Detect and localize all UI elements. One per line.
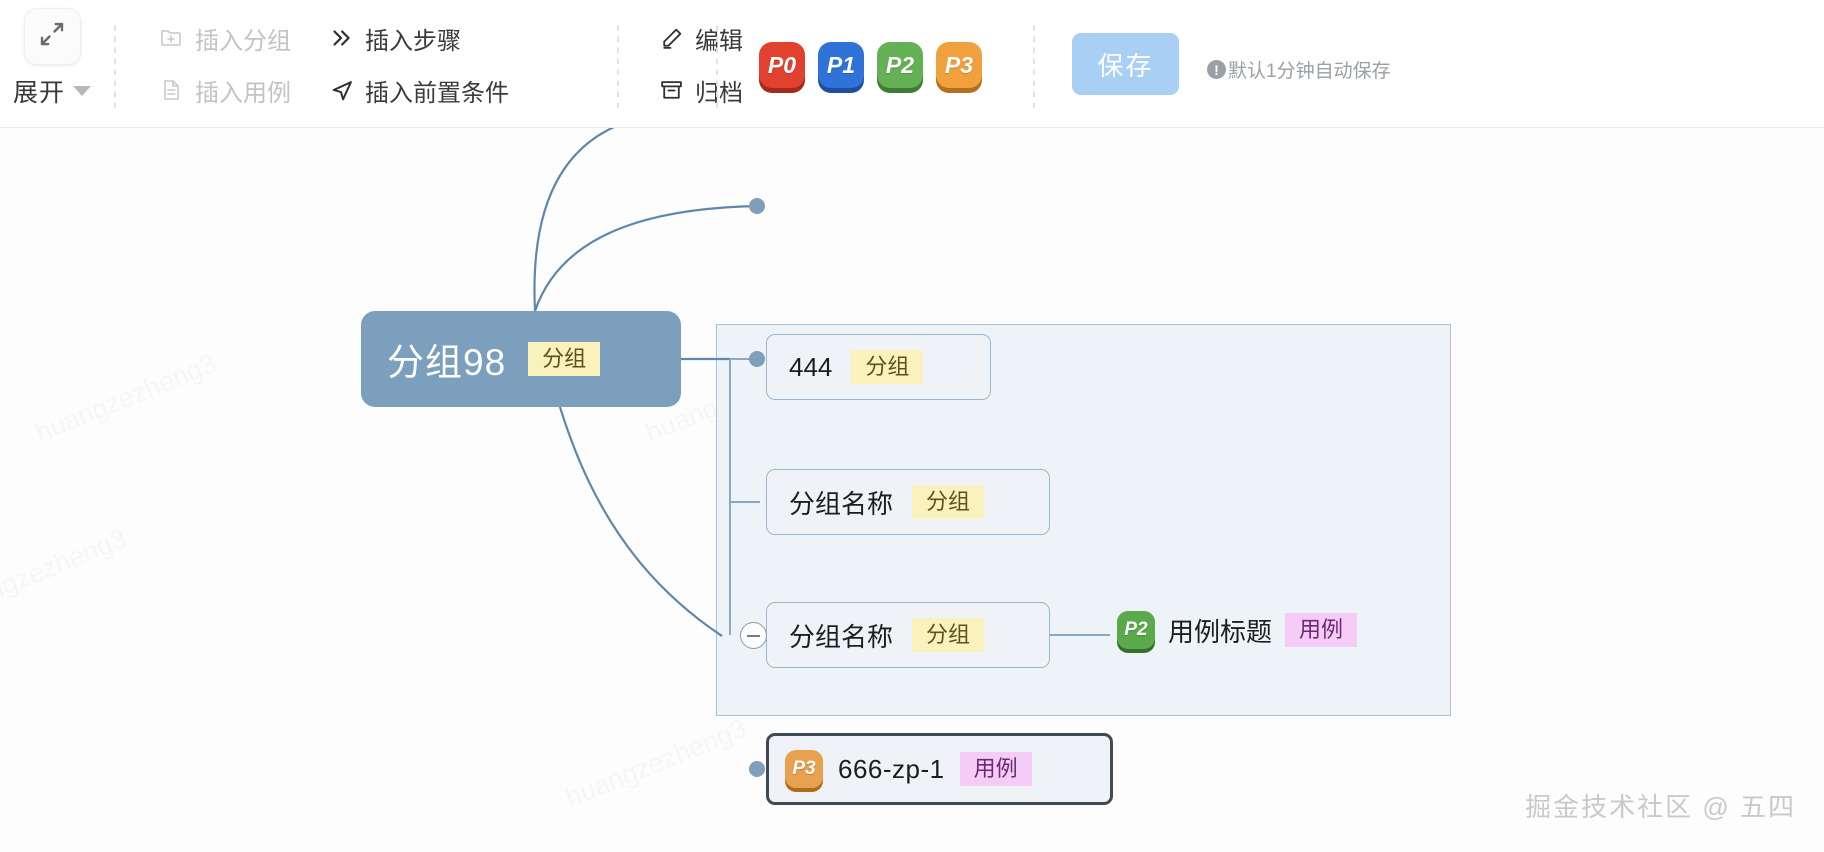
node-title: 666-zp-1 bbox=[838, 754, 945, 785]
toolbar-item-insert-step[interactable]: 插入步骤 bbox=[328, 12, 509, 64]
insert-group-icon bbox=[158, 25, 184, 51]
node-tag: 用例 bbox=[1285, 613, 1357, 647]
chevrons-right-icon bbox=[328, 25, 354, 51]
navigation-arrow-icon bbox=[328, 77, 354, 103]
priority-p2-button[interactable]: P2 bbox=[877, 42, 923, 88]
toolbar-divider-4 bbox=[1033, 20, 1035, 108]
toolbar: 展开 插入分组 插入用 bbox=[0, 0, 1824, 128]
mindmap-node-group-2[interactable]: 分组名称 分组 bbox=[766, 602, 1050, 668]
toolbar-divider-3 bbox=[716, 20, 718, 108]
toolbar-item-archive[interactable]: 归档 bbox=[658, 64, 743, 116]
node-title: 用例标题 bbox=[1168, 612, 1272, 649]
node-title: 分组名称 bbox=[789, 484, 893, 521]
mindmap-node-444[interactable]: 444 分组 bbox=[766, 334, 991, 400]
collapse-minus-icon[interactable] bbox=[740, 622, 767, 649]
priority-p0-button[interactable]: P0 bbox=[759, 42, 805, 88]
toolbar-divider-1 bbox=[114, 20, 116, 108]
node-title: 分组名称 bbox=[789, 617, 893, 654]
node-tag: 分组 bbox=[851, 350, 923, 384]
autosave-hint: ! 默认1分钟自动保存 bbox=[1207, 56, 1391, 83]
expand-button[interactable] bbox=[24, 8, 81, 65]
exclamation-icon: ! bbox=[1207, 60, 1226, 79]
node-tag: 用例 bbox=[960, 752, 1032, 786]
expand-arrows-icon bbox=[37, 19, 67, 54]
priority-p1-button[interactable]: P1 bbox=[818, 42, 864, 88]
brand-watermark: 掘金技术社区 @ 五四 bbox=[1525, 787, 1796, 824]
archive-icon bbox=[658, 77, 684, 103]
toolbar-item-insert-group[interactable]: 插入分组 bbox=[158, 12, 291, 64]
toolbar-item-insert-precondition[interactable]: 插入前置条件 bbox=[328, 64, 509, 116]
toolbar-item-label: 插入步骤 bbox=[365, 21, 461, 56]
priority-badge: P3 bbox=[785, 750, 823, 788]
toolbar-item-label: 归档 bbox=[695, 73, 743, 108]
expand-control[interactable]: 展开 bbox=[6, 8, 98, 120]
priority-p3-button[interactable]: P3 bbox=[936, 42, 982, 88]
chevron-down-icon[interactable] bbox=[73, 86, 91, 96]
toolbar-divider-2 bbox=[617, 20, 619, 108]
toolbar-group-insert: 插入分组 插入用例 bbox=[158, 8, 291, 120]
node-tag: 分组 bbox=[528, 342, 600, 376]
connector-dot bbox=[749, 761, 765, 777]
toolbar-item-label: 插入用例 bbox=[195, 73, 291, 108]
toolbar-item-edit[interactable]: 编辑 bbox=[658, 12, 743, 64]
mindmap-editor: 展开 插入分组 插入用 bbox=[0, 0, 1824, 852]
insert-case-icon bbox=[158, 77, 184, 103]
connector-444 bbox=[535, 206, 760, 311]
connector-dot bbox=[749, 198, 765, 214]
connector-top bbox=[534, 128, 640, 311]
priority-palette: P0 P1 P2 P3 bbox=[759, 42, 982, 88]
priority-badge: P2 bbox=[1117, 611, 1155, 649]
toolbar-item-label: 编辑 bbox=[695, 21, 743, 56]
node-tag: 分组 bbox=[912, 485, 984, 519]
toolbar-group-step: 插入步骤 插入前置条件 bbox=[328, 8, 509, 120]
toolbar-item-insert-case[interactable]: 插入用例 bbox=[158, 64, 291, 116]
node-title: 444 bbox=[789, 352, 832, 383]
expand-label: 展开 bbox=[13, 73, 65, 109]
mindmap-node-selected[interactable]: P3 666-zp-1 用例 bbox=[766, 733, 1113, 805]
toolbar-item-label: 插入分组 bbox=[195, 21, 291, 56]
mindmap-node-root[interactable]: 分组98 分组 bbox=[361, 311, 681, 407]
toolbar-item-label: 插入前置条件 bbox=[365, 73, 509, 108]
autosave-text: 默认1分钟自动保存 bbox=[1228, 56, 1391, 83]
node-title: 分组98 bbox=[387, 332, 506, 386]
toolbar-group-edit: 编辑 归档 bbox=[658, 8, 743, 120]
mindmap-node-group-1[interactable]: 分组名称 分组 bbox=[766, 469, 1050, 535]
mindmap-node-case-title[interactable]: P2 用例标题 用例 bbox=[1117, 611, 1357, 649]
node-tag: 分组 bbox=[912, 618, 984, 652]
connector-dot bbox=[749, 351, 765, 367]
save-button[interactable]: 保存 bbox=[1072, 33, 1179, 95]
pencil-icon bbox=[658, 25, 684, 51]
mindmap-canvas[interactable]: huangzezheng3 huangzezheng3 huangzezheng… bbox=[0, 128, 1824, 852]
